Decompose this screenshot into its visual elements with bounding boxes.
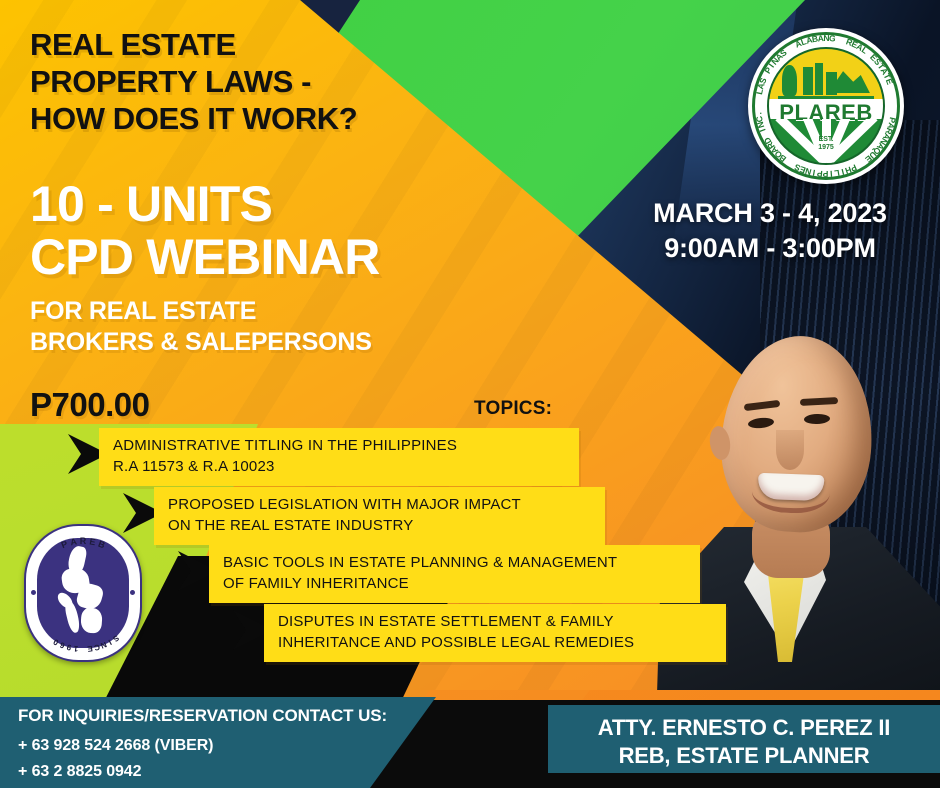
topic-text-box: ADMINISTRATIVE TITLING IN THE PHILIPPINE… bbox=[99, 428, 579, 486]
topic-text-box: DISPUTES IN ESTATE SETTLEMENT & FAMILY I… bbox=[264, 604, 726, 662]
topics-heading: TOPICS: bbox=[474, 398, 552, 420]
contact-block: FOR INQUIRIES/RESERVATION CONTACT US: + … bbox=[18, 706, 438, 785]
topic-text-box: PROPOSED LEGISLATION WITH MAJOR IMPACT O… bbox=[154, 487, 605, 545]
building-icon bbox=[826, 72, 837, 95]
speaker-name: ATTY. ERNESTO C. PEREZ II bbox=[548, 714, 940, 742]
headline-line-3: HOW DOES IT WORK? bbox=[30, 100, 500, 137]
speaker-photo bbox=[648, 322, 940, 722]
contact-phone-1[interactable]: + 63 928 524 2668 (VIBER) bbox=[18, 733, 438, 759]
units-title: 10 - UNITS CPD WEBINAR bbox=[30, 178, 530, 284]
headline-line-2: PROPERTY LAWS - bbox=[30, 63, 500, 100]
event-date: MARCH 3 - 4, 2023 bbox=[600, 196, 940, 231]
building-icon bbox=[815, 63, 823, 95]
units-line-1: 10 - UNITS bbox=[30, 178, 530, 231]
contact-phone-2[interactable]: + 63 2 8825 0942 bbox=[18, 759, 438, 785]
audience-line-2: BROKERS & SALEPERSONS bbox=[30, 327, 500, 358]
speaker-banner: ATTY. ERNESTO C. PEREZ II REB, ESTATE PL… bbox=[548, 714, 940, 770]
topic-line-2: OF FAMILY INHERITANCE bbox=[223, 573, 688, 594]
tree-icon bbox=[782, 65, 797, 96]
topic-text-box: BASIC TOOLS IN ESTATE PLANNING & MANAGEM… bbox=[209, 545, 700, 603]
topic-line-2: R.A 11573 & R.A 10023 bbox=[113, 456, 567, 477]
plareb-landscape-icon bbox=[778, 63, 874, 99]
pareb-name-arc: PAREB bbox=[24, 524, 142, 662]
building-icon bbox=[803, 67, 813, 95]
webinar-poster: REAL ESTATE PROPERTY LAWS - HOW DOES IT … bbox=[0, 0, 940, 788]
pareb-logo: PAREB SINCE 1960 bbox=[24, 524, 142, 662]
plareb-established: EST. 1975 bbox=[769, 136, 883, 154]
speaker-title: REB, ESTATE PLANNER bbox=[548, 742, 940, 770]
topic-line-1: PROPOSED LEGISLATION WITH MAJOR IMPACT bbox=[168, 494, 593, 515]
units-line-2: CPD WEBINAR bbox=[30, 231, 530, 284]
event-datetime: MARCH 3 - 4, 2023 9:00AM - 3:00PM bbox=[600, 196, 940, 266]
audience-subtitle: FOR REAL ESTATE BROKERS & SALEPERSONS bbox=[30, 296, 500, 357]
topic-line-2: ON THE REAL ESTATE INDUSTRY bbox=[168, 515, 593, 536]
speaker-lip-line bbox=[751, 467, 831, 515]
plareb-emblem: PLAREB EST. 1975 bbox=[767, 47, 885, 165]
speaker-nose bbox=[776, 430, 804, 470]
topic-line-1: ADMINISTRATIVE TITLING IN THE PHILIPPINE… bbox=[113, 435, 567, 456]
page-title: REAL ESTATE PROPERTY LAWS - HOW DOES IT … bbox=[30, 26, 500, 138]
plareb-logo: LAS PIÑAS ALABANG REAL ESTATE PARAÑAQUE … bbox=[748, 28, 904, 184]
est-year: 1975 bbox=[769, 144, 883, 153]
headline-line-1: REAL ESTATE bbox=[30, 26, 500, 63]
event-time: 9:00AM - 3:00PM bbox=[600, 231, 940, 266]
topic-line-2: INHERITANCE AND POSSIBLE LEGAL REMEDIES bbox=[278, 632, 714, 653]
contact-title: FOR INQUIRIES/RESERVATION CONTACT US: bbox=[18, 706, 438, 726]
topic-line-1: DISPUTES IN ESTATE SETTLEMENT & FAMILY bbox=[278, 611, 714, 632]
audience-line-1: FOR REAL ESTATE bbox=[30, 296, 500, 327]
est-label: EST. bbox=[769, 136, 883, 145]
topic-line-1: BASIC TOOLS IN ESTATE PLANNING & MANAGEM… bbox=[223, 552, 688, 573]
price-label: P700.00 bbox=[30, 386, 149, 424]
